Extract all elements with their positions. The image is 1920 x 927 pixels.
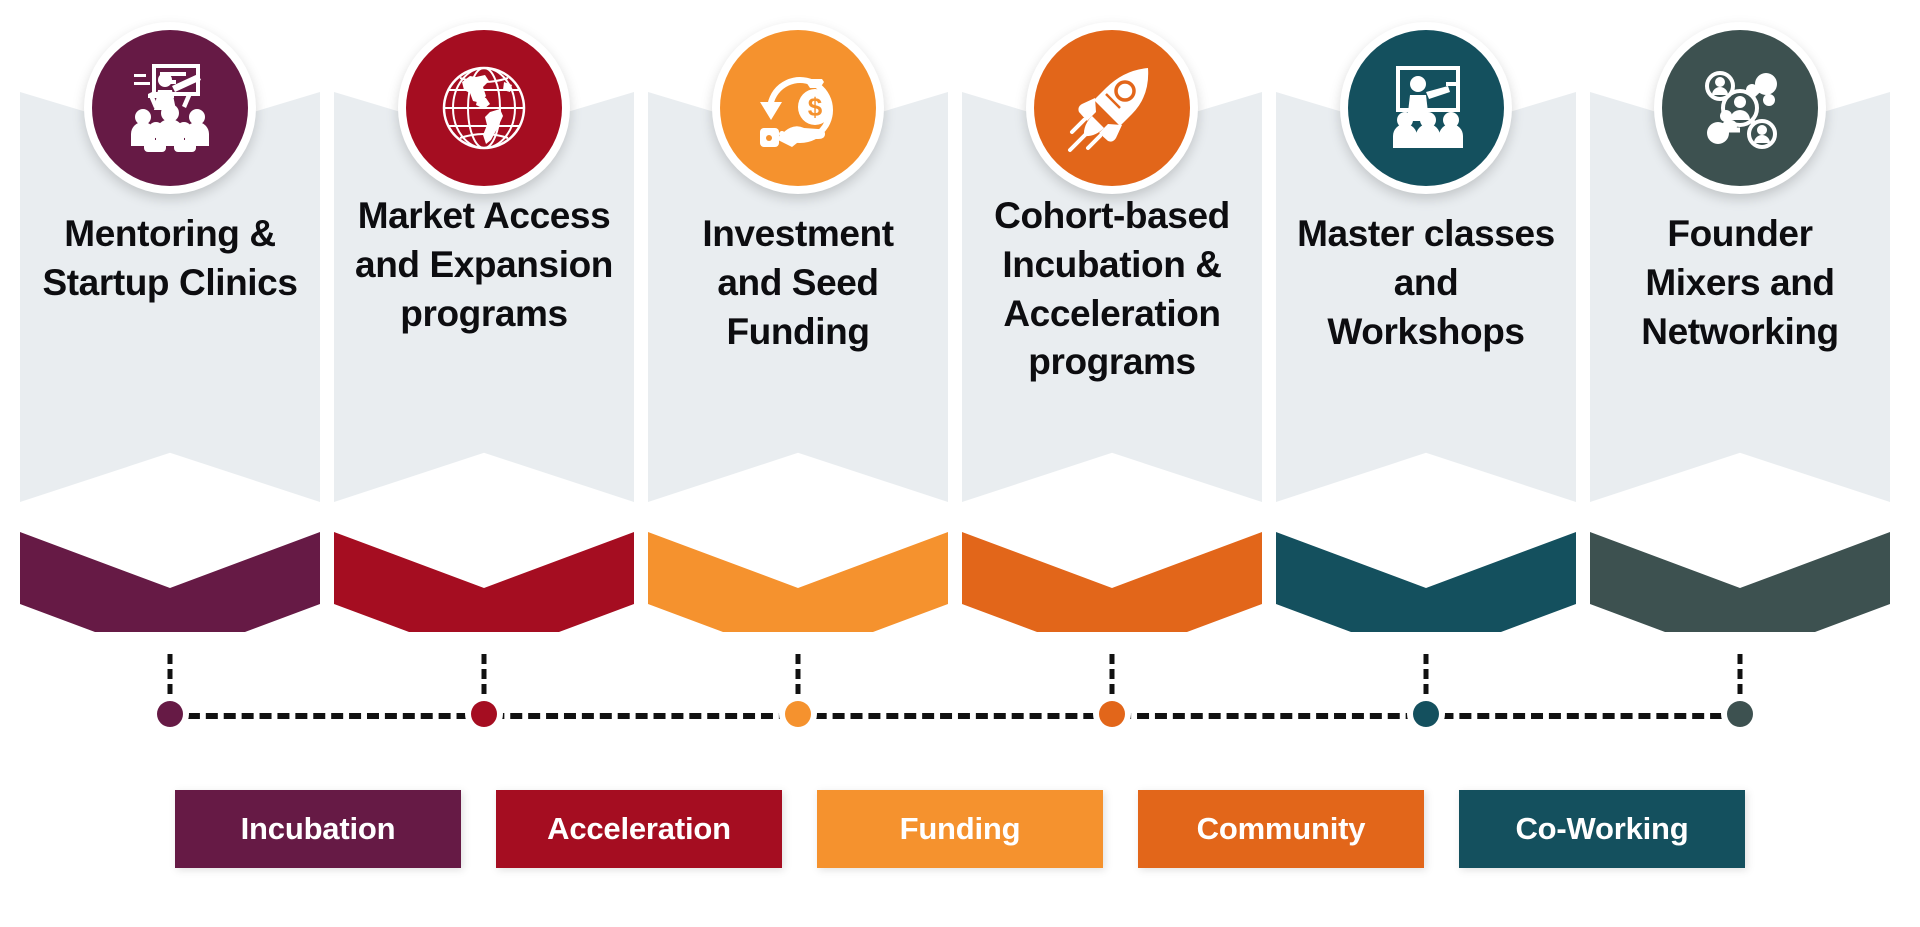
- legend-label-community: Community: [1197, 811, 1366, 847]
- timeline-node-6[interactable]: [1721, 695, 1759, 733]
- column-label-4: Cohort-based Incubation & Acceleration p…: [980, 192, 1244, 387]
- timeline-dashed-connector: [170, 713, 1740, 719]
- timeline-node-5[interactable]: [1407, 695, 1445, 733]
- classroom-teacher-icon: [1348, 30, 1504, 186]
- infographic-canvas: Mentoring & Startup Clinics: [0, 0, 1920, 927]
- svg-text:$: $: [808, 92, 823, 122]
- column-label-6: Founder Mixers and Networking: [1608, 210, 1872, 356]
- icon-badge-3[interactable]: $: [712, 22, 884, 194]
- legend-label-funding: Funding: [900, 811, 1021, 847]
- legend-label-co-working: Co-Working: [1515, 811, 1688, 847]
- timeline-node-2[interactable]: [465, 695, 503, 733]
- process-column-3[interactable]: Investment and Seed Funding $: [648, 0, 948, 760]
- process-column-5[interactable]: Master classes and Workshops: [1276, 0, 1576, 760]
- legend-item-co-working[interactable]: Co-Working: [1459, 790, 1745, 868]
- column-label-2: Market Access and Expansion programs: [352, 192, 616, 338]
- icon-badge-1[interactable]: [84, 22, 256, 194]
- column-band-4: [962, 532, 1262, 632]
- timeline-node-1[interactable]: [151, 695, 189, 733]
- legend-label-acceleration: Acceleration: [547, 811, 731, 847]
- legend-item-funding[interactable]: Funding: [817, 790, 1103, 868]
- column-band-6: [1590, 532, 1890, 632]
- column-label-3: Investment and Seed Funding: [666, 210, 930, 356]
- column-band-5: [1276, 532, 1576, 632]
- mentoring-audience-icon: [92, 30, 248, 186]
- icon-badge-6[interactable]: [1654, 22, 1826, 194]
- globe-icon: [406, 30, 562, 186]
- hand-money-bag-icon: $: [720, 30, 876, 186]
- timeline-node-4[interactable]: [1093, 695, 1131, 733]
- icon-badge-2[interactable]: [398, 22, 570, 194]
- process-column-6[interactable]: Founder Mixers and Networking: [1590, 0, 1890, 760]
- process-column-4[interactable]: Cohort-based Incubation & Acceleration p…: [962, 0, 1262, 760]
- timeline-node-3[interactable]: [779, 695, 817, 733]
- process-column-1[interactable]: Mentoring & Startup Clinics: [20, 0, 320, 760]
- process-column-2[interactable]: Market Access and Expansion programs: [334, 0, 634, 760]
- column-label-1: Mentoring & Startup Clinics: [38, 210, 302, 308]
- legend-item-community[interactable]: Community: [1138, 790, 1424, 868]
- column-band-2: [334, 532, 634, 632]
- column-label-5: Master classes and Workshops: [1294, 210, 1558, 356]
- icon-badge-4[interactable]: [1026, 22, 1198, 194]
- icon-badge-5[interactable]: [1340, 22, 1512, 194]
- people-network-icon: [1662, 30, 1818, 186]
- legend: Incubation Acceleration Funding Communit…: [0, 790, 1920, 868]
- rocket-icon: [1034, 30, 1190, 186]
- legend-item-incubation[interactable]: Incubation: [175, 790, 461, 868]
- legend-item-acceleration[interactable]: Acceleration: [496, 790, 782, 868]
- column-band-1: [20, 532, 320, 632]
- legend-label-incubation: Incubation: [241, 811, 396, 847]
- column-band-3: [648, 532, 948, 632]
